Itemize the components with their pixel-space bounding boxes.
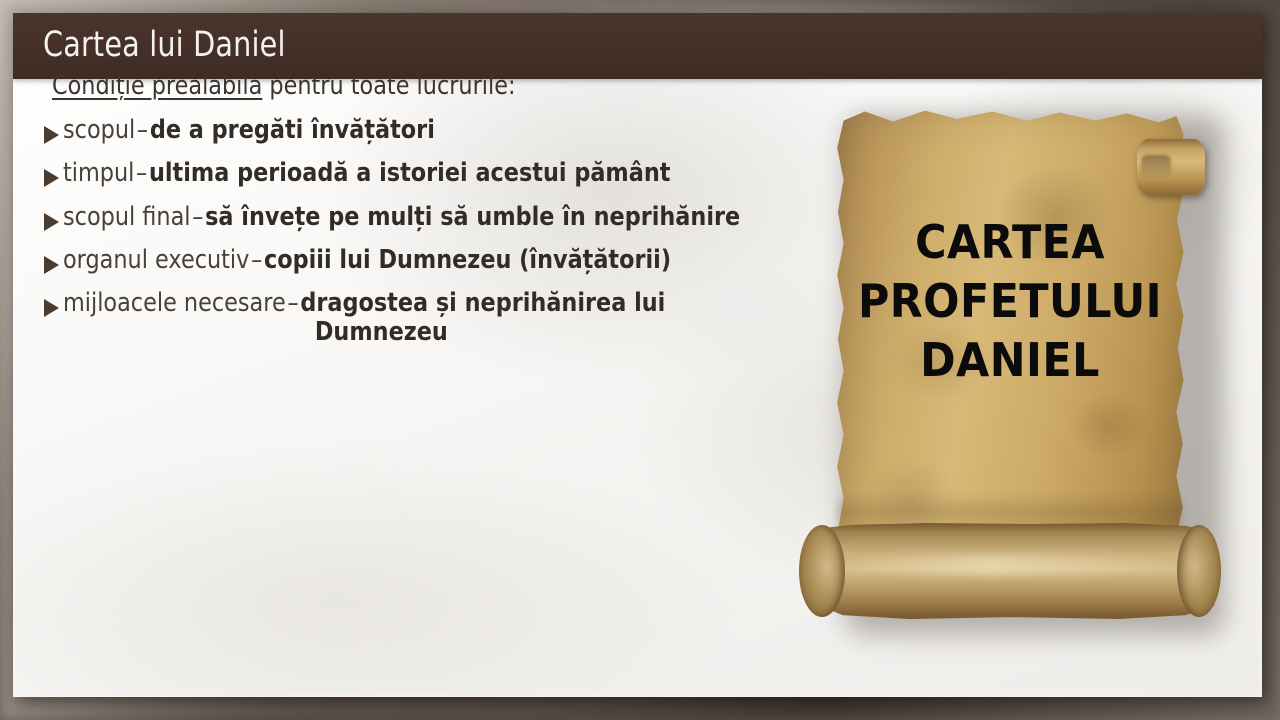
list-item: mijloacele necesare–dragostea și neprihă… [44,290,804,347]
bullet-dash: – [135,115,150,145]
bullet-label: timpul [63,158,134,188]
list-item: scopul–de a pregăti învățători [44,117,804,144]
parchment-scroll-image: CARTEA PROFETULUI DANIEL [785,93,1255,653]
bullet-strong: copiii lui Dumnezeu (învățătorii) [264,245,671,275]
page-title: Cartea lui Daniel [43,25,286,65]
list-item-text: mijloacele necesare–dragostea și neprihă… [63,290,665,347]
bullet-strong: de a pregăti învățători [150,115,435,145]
body-content: Condiție prealabilă pentru toate lucruri… [44,73,804,363]
bullet-label: mijloacele necesare [63,288,286,318]
triangle-right-icon [44,256,59,274]
scroll-roll-cap-right [1177,525,1221,617]
list-item-text: scopul final–să învețe pe mulți să umble… [63,204,740,231]
list-item: scopul final–să învețe pe mulți să umble… [44,204,804,231]
scroll-caption-line-3: DANIEL [857,331,1164,390]
scroll-roll-highlight [831,555,1183,575]
bullet-dash: – [286,288,301,318]
list-item-text: organul executiv–copiii lui Dumnezeu (în… [63,247,671,274]
scroll-caption-line-2: PROFETULUI [857,272,1164,331]
bullet-label: organul executiv [63,245,249,275]
list-item: timpul–ultima perioadă a istoriei acestu… [44,160,804,187]
triangle-right-icon [44,213,59,231]
bullet-dash: – [190,202,205,232]
list-item: organul executiv–copiii lui Dumnezeu (în… [44,247,804,274]
lead-underlined-text: Condiție prealabilă [52,71,262,101]
bullet-strong: ultima perioadă a istoriei acestui pămân… [149,158,670,188]
list-item-text: timpul–ultima perioadă a istoriei acestu… [63,160,670,187]
title-bar: Cartea lui Daniel [13,13,1262,79]
bullet-dash: – [249,245,264,275]
triangle-right-icon [44,299,59,317]
scroll-caption: CARTEA PROFETULUI DANIEL [845,213,1175,390]
scroll-top-roll-knob [1137,139,1205,195]
triangle-right-icon [44,126,59,144]
bullet-label: scopul [63,115,135,145]
lead-rest-text: pentru toate lucrurile: [262,71,515,101]
bullet-label: scopul final [63,202,190,232]
bullet-wrap-line: Dumnezeu [63,317,665,346]
bullet-strong: dragostea și neprihănirea lui [300,288,665,318]
lead-line: Condiție prealabilă pentru toate lucruri… [52,73,699,99]
scroll-caption-line-1: CARTEA [857,213,1164,272]
scroll-roll-cap-left [799,525,845,617]
triangle-right-icon [44,169,59,187]
slide-card: Cartea lui Daniel Condiție prealabilă pe… [13,13,1262,697]
list-item-text: scopul–de a pregăti învățători [63,117,435,144]
bullet-strong: să învețe pe mulți să umble în neprihăni… [205,202,740,232]
bullet-dash: – [134,158,149,188]
slide-root: Cartea lui Daniel Condiție prealabilă pe… [0,0,1280,720]
